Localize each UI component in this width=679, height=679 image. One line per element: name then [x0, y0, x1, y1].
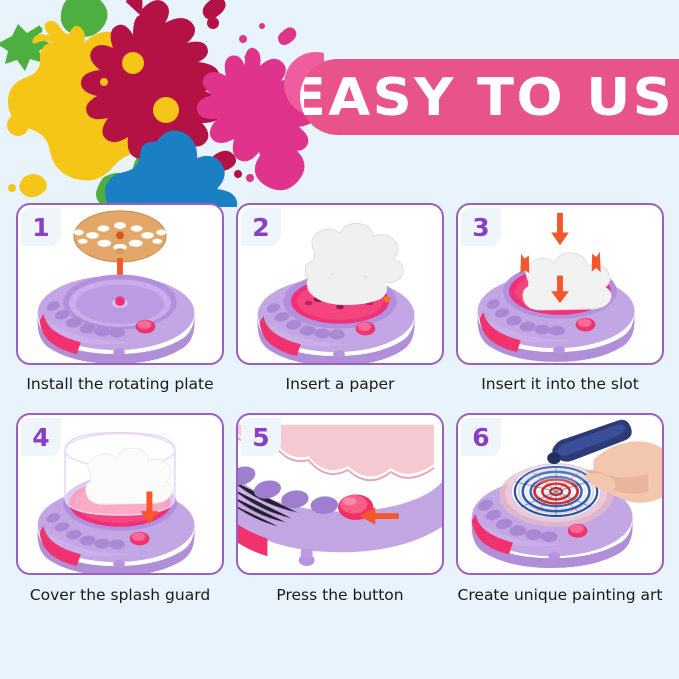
- step-caption-6: Create unique painting art: [458, 587, 663, 604]
- steps-grid: 1: [16, 203, 664, 604]
- step-card-1: 1: [16, 203, 224, 365]
- step-caption-4: Cover the splash guard: [30, 587, 210, 604]
- step-number-badge-1: 1: [21, 208, 61, 246]
- step-4: 4: [16, 413, 224, 604]
- step-card-3: 3: [456, 203, 664, 365]
- step-number-badge-5: 5: [241, 418, 281, 456]
- step-6: 6: [456, 413, 664, 604]
- step-1: 1: [16, 203, 224, 393]
- step-3: 3: [456, 203, 664, 393]
- step-caption-3: Insert it into the slot: [481, 376, 639, 393]
- step-caption-1: Install the rotating plate: [26, 376, 213, 393]
- infographic-page: EASY TO USE 1: [0, 0, 679, 679]
- step-5: 5: [236, 413, 444, 604]
- step-card-5: 5: [236, 413, 444, 575]
- step-card-4: 4: [16, 413, 224, 575]
- step-number-badge-3: 3: [461, 208, 501, 246]
- step-2: 2: [236, 203, 444, 393]
- page-title: EASY TO USE: [300, 71, 679, 123]
- title-banner: EASY TO USE: [300, 59, 679, 135]
- step-number-badge-2: 2: [241, 208, 281, 246]
- step-caption-5: Press the button: [276, 587, 403, 604]
- step-card-2: 2: [236, 203, 444, 365]
- step-number-badge-4: 4: [21, 418, 61, 456]
- step-card-6: 6: [456, 413, 664, 575]
- step-caption-2: Insert a paper: [286, 376, 395, 393]
- paint-splatter-graphic: [0, 0, 324, 207]
- step-number-badge-6: 6: [461, 418, 501, 456]
